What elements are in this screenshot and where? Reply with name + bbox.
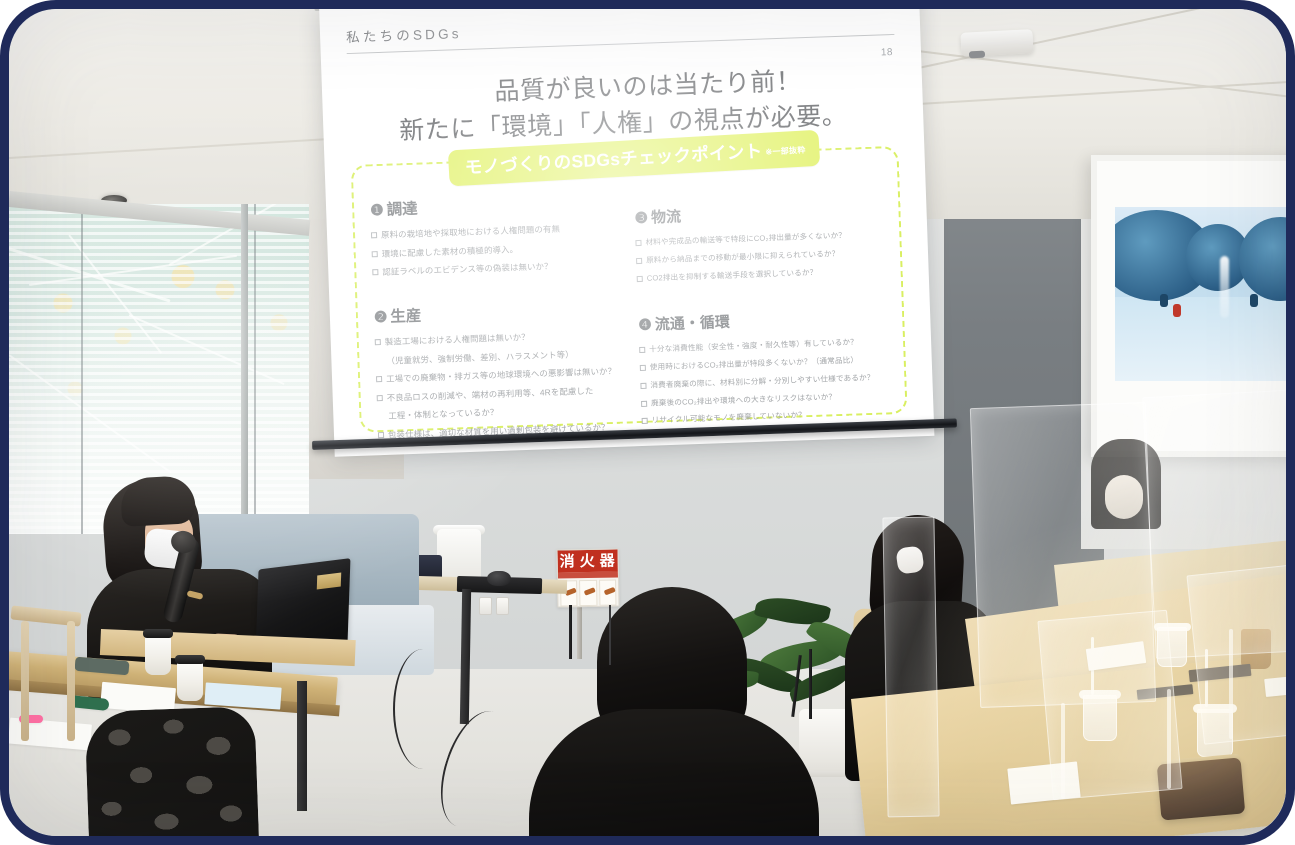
acrylic-partition xyxy=(1186,563,1286,744)
list-item: 認証ラベルのエビデンス等の偽装は無いか？ xyxy=(372,258,622,280)
list-item-label: 原料から納品までの移動が最小限に抑えられているか？ xyxy=(646,248,840,267)
checkbox-icon[interactable] xyxy=(376,376,382,382)
list-item-label: 製造工場における人権問題は無いか？ xyxy=(385,331,530,349)
checkbox-icon[interactable] xyxy=(642,418,648,424)
section-label-2: 生産 xyxy=(390,304,422,327)
list-item-label: 材料や完成品の輸送等で特段にCO₂排出量が多くないか？ xyxy=(645,230,846,249)
wall-outlet[interactable] xyxy=(496,597,509,615)
artwork-figure xyxy=(1250,294,1258,307)
section-list-3: 材料や完成品の輸送等で特段にCO₂排出量が多くないか？ 原料から納品までの移動が… xyxy=(635,228,886,284)
table-leg xyxy=(297,681,307,811)
section-label-3: 物流 xyxy=(651,205,682,227)
list-item-label: 環境に配慮した素材の積極的導入。 xyxy=(382,243,519,261)
artwork-figure xyxy=(1173,304,1181,317)
fire-sign-panel xyxy=(579,580,597,606)
checkpoint-column-left: ❶ 調達 原料の栽培地や採取地における人権問題の有無 環境に配慮した素材の積極的… xyxy=(369,180,627,421)
coffee-cup-lid xyxy=(143,629,173,638)
list-item: 工場での廃棄物・排ガス等の地球環境への悪影響は無いか？ xyxy=(376,365,626,387)
blind-cord[interactable] xyxy=(254,204,256,534)
list-item: （児童就労、強制労働、差別、ハラスメント等） xyxy=(375,346,625,368)
cable xyxy=(609,605,611,665)
list-item: CO2排出を抑制する輸送手段を選択しているか？ xyxy=(637,264,887,284)
seminar-room-scene: 私たちのSDGs 18 品質が良いのは当たり前！ 新たに「環境」「人権」の視点が… xyxy=(9,9,1286,836)
coffee-cup[interactable] xyxy=(145,635,171,675)
section-number-2: ❷ xyxy=(374,308,388,326)
fire-extinguisher-sign: 消 火 器 xyxy=(556,548,619,607)
checkbox-icon[interactable] xyxy=(640,383,646,389)
section-title-4: ❹ 流通・循環 xyxy=(638,306,889,336)
artwork-figure xyxy=(1160,294,1168,307)
section-list-1: 原料の栽培地や採取地における人権問題の有無 環境に配慮した素材の積極的導入。 認… xyxy=(371,221,623,280)
partition-leg xyxy=(1167,689,1171,789)
window-mullion xyxy=(241,204,248,534)
checkpoint-box: モノづくりのSDGsチェックポイント※一部抜粋 ❶ 調達 原料の栽培地や採取地に… xyxy=(351,146,908,433)
list-item-label: 使用時におけるCO₂排出量が特段多くないか？（通常品比） xyxy=(650,354,859,373)
list-item: 消費者廃棄の際に、材料別に分解・分別しやすい仕様であるか？ xyxy=(640,371,890,391)
partition-leg xyxy=(1229,629,1233,739)
section-number-3: ❸ xyxy=(634,209,648,227)
list-item-label: 消費者廃棄の際に、材料別に分解・分別しやすい仕様であるか？ xyxy=(650,372,874,392)
checkpoint-banner-title: モノづくりのSDGsチェックポイント xyxy=(464,141,763,178)
list-item: 原料から納品までの移動が最小限に抑えられているか？ xyxy=(636,246,886,266)
section-label-1: 調達 xyxy=(386,197,418,220)
list-item-label: 廃棄後のCO₂排出や環境への大きなリスクはないか？ xyxy=(651,391,836,409)
checkbox-icon[interactable] xyxy=(377,395,383,401)
coffee-cup-lid xyxy=(175,655,205,664)
artwork-tree xyxy=(1239,217,1286,301)
section-list-2: 製造工場における人権問題は無いか？ （児童就労、強制労働、差別、ハラスメント等）… xyxy=(375,328,629,442)
projection-screen: 私たちのSDGs 18 品質が良いのは当たり前！ 新たに「環境」「人権」の視点が… xyxy=(319,9,934,457)
slide-page-number: 18 xyxy=(881,47,894,58)
section-number-4: ❹ xyxy=(638,316,652,334)
list-item-label: 工程・体制となっているか？ xyxy=(388,406,499,423)
leopard-print-bag xyxy=(84,706,259,836)
checkbox-icon[interactable] xyxy=(372,269,378,275)
partition-leg xyxy=(1061,703,1065,799)
list-item-label: 工場での廃棄物・排ガス等の地球環境への悪影響は無いか？ xyxy=(386,365,617,386)
mic-stand xyxy=(569,605,572,659)
checkbox-icon[interactable] xyxy=(636,258,642,264)
checkbox-icon[interactable] xyxy=(640,365,646,371)
list-item-label: 認証ラベルのエビデンス等の偽装は無いか？ xyxy=(382,260,553,279)
computer-mouse[interactable] xyxy=(487,571,511,586)
checkbox-icon[interactable] xyxy=(372,251,378,257)
list-item: 使用時におけるCO₂排出量が特段多くないか？（通常品比） xyxy=(640,353,890,373)
list-item-label: 不良品ロスの削減や、端材の再利用等、4Rを配慮した xyxy=(387,384,594,404)
list-item: 工程・体制となっているか？ xyxy=(377,402,627,424)
fire-sign-char-1: 消 xyxy=(560,554,576,569)
checkpoint-banner-note: ※一部抜粋 xyxy=(765,146,806,157)
artwork-plaza xyxy=(1115,297,1286,381)
section-number-1: ❶ xyxy=(370,201,384,219)
fire-sign-panel xyxy=(599,580,617,606)
list-item: 環境に配慮した素材の積極的導入。 xyxy=(372,239,622,261)
blind-cord[interactable] xyxy=(81,204,83,534)
section-title-2: ❷ 生産 xyxy=(374,297,625,328)
list-item-label: CO2排出を抑制する輸送手段を選択しているか？ xyxy=(647,266,818,284)
plant-stem xyxy=(809,649,812,719)
fire-sign-title: 消 火 器 xyxy=(558,549,618,572)
checkbox-icon[interactable] xyxy=(371,232,377,238)
checkbox-icon[interactable] xyxy=(635,240,641,246)
checkpoint-column-right: ❸ 物流 材料や完成品の輸送等で特段にCO₂排出量が多くないか？ 原料から納品ま… xyxy=(633,170,891,411)
acrylic-partition xyxy=(1037,610,1182,801)
list-item: 不良品ロスの削減や、端材の再利用等、4Rを配慮した xyxy=(377,383,627,405)
section-list-4: 十分な消費性能（安全性・強度・耐久性等）有しているか？ 使用時におけるCO₂排出… xyxy=(639,336,892,428)
coffee-cup[interactable] xyxy=(177,661,203,701)
section-label-4: 流通・循環 xyxy=(654,311,730,335)
fire-sign-subbar xyxy=(558,571,618,578)
list-item: 廃棄後のCO₂排出や環境への大きなリスクはないか？ xyxy=(641,389,891,409)
acrylic-partition xyxy=(882,517,939,818)
chair-leg xyxy=(21,621,29,741)
fire-sign-char-3: 器 xyxy=(600,553,616,568)
fire-sign-char-2: 火 xyxy=(580,553,596,568)
sign-post xyxy=(577,605,582,659)
list-item-label: （児童就労、強制労働、差別、ハラスメント等） xyxy=(386,348,574,368)
checkbox-icon[interactable] xyxy=(378,432,384,438)
artwork-photo xyxy=(1115,207,1286,381)
artwork-fountain xyxy=(1220,256,1229,318)
wall-outlet[interactable] xyxy=(479,597,492,615)
list-item: 製造工場における人権問題は無いか？ xyxy=(375,328,625,350)
list-item-label: 原料の栽培地や採取地における人権問題の有無 xyxy=(381,223,560,242)
cable xyxy=(393,649,453,769)
projector-lens-icon xyxy=(969,51,985,59)
checkbox-icon[interactable] xyxy=(641,400,647,406)
checkbox-icon[interactable] xyxy=(637,275,643,281)
section-title-3: ❸ 物流 xyxy=(634,198,885,228)
list-item: 材料や完成品の輸送等で特段にCO₂排出量が多くないか？ xyxy=(635,228,885,248)
slide-eyebrow: 私たちのSDGs xyxy=(346,9,894,46)
photo-frame: 私たちのSDGs 18 品質が良いのは当たり前！ 新たに「環境」「人権」の視点が… xyxy=(0,0,1295,845)
checkbox-icon[interactable] xyxy=(639,347,645,353)
checkbox-icon[interactable] xyxy=(375,339,381,345)
list-item: 十分な消費性能（安全性・強度・耐久性等）有しているか？ xyxy=(639,336,889,356)
chair-leg xyxy=(67,621,75,741)
list-item: 原料の栽培地や採取地における人権問題の有無 xyxy=(371,221,621,243)
list-item-label: 十分な消費性能（安全性・強度・耐久性等）有しているか？ xyxy=(649,337,858,356)
section-title-1: ❶ 調達 xyxy=(370,190,621,221)
